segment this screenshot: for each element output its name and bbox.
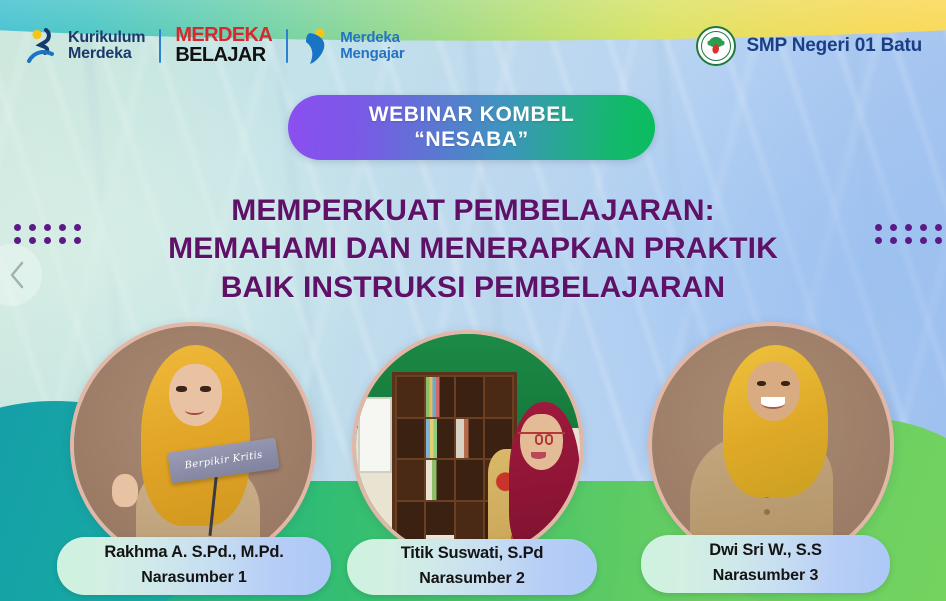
speaker-2-name: Titik Suswati, S.Pd bbox=[401, 544, 544, 563]
school-name: SMP Negeri 01 Batu bbox=[746, 35, 922, 57]
chevron-left-icon bbox=[7, 260, 27, 290]
program-logos: Kurikulum Merdeka MERDEKA BELAJAR Merdek… bbox=[26, 26, 405, 65]
mengajar-line1: Merdeka bbox=[340, 30, 404, 46]
kurikulum-line1: Kurikulum bbox=[68, 30, 145, 46]
headline-line-1: MEMPERKUAT PEMBELAJARAN: bbox=[0, 192, 946, 230]
mengajar-line2: Mengajar bbox=[340, 46, 404, 62]
speaker-3 bbox=[648, 322, 894, 568]
dot-grid-left bbox=[14, 224, 81, 244]
school-crest-icon bbox=[696, 26, 736, 66]
speaker-3-role: Narasumber 3 bbox=[713, 567, 819, 585]
webinar-flyer-slide: Kurikulum Merdeka MERDEKA BELAJAR Merdek… bbox=[0, 0, 946, 601]
kurikulum-line2: Merdeka bbox=[68, 46, 145, 62]
speaker-2-photo bbox=[352, 330, 584, 562]
webinar-pill-line2: “NESABA” bbox=[414, 128, 528, 153]
merdeka-mengajar-bird-icon bbox=[302, 27, 332, 65]
merdeka-mengajar-logo: Merdeka Mengajar bbox=[302, 27, 404, 65]
speaker-2-nameplate: Titik Suswati, S.Pd Narasumber 2 bbox=[347, 539, 597, 595]
kurikulum-merdeka-logo: Kurikulum Merdeka bbox=[26, 28, 145, 64]
header-bar: Kurikulum Merdeka MERDEKA BELAJAR Merdek… bbox=[0, 0, 946, 92]
speaker-3-photo bbox=[648, 322, 894, 568]
school-identity: SMP Negeri 01 Batu bbox=[696, 26, 922, 66]
logo-divider-1 bbox=[159, 29, 161, 63]
speaker-3-name: Dwi Sri W., S.S bbox=[709, 541, 822, 560]
merdeka-mengajar-text: Merdeka Mengajar bbox=[340, 30, 404, 61]
kurikulum-merdeka-runner-icon bbox=[26, 28, 60, 64]
webinar-pill-line1: WEBINAR KOMBEL bbox=[369, 103, 575, 128]
kurikulum-merdeka-text: Kurikulum Merdeka bbox=[68, 30, 145, 63]
dot-grid-right bbox=[875, 224, 942, 244]
headline-line-2: MEMAHAMI DAN MENERAPKAN PRAKTIK bbox=[0, 230, 946, 268]
logo-divider-2 bbox=[286, 29, 288, 63]
page-title: MEMPERKUAT PEMBELAJARAN: MEMAHAMI DAN ME… bbox=[0, 192, 946, 307]
speaker-1: Berpikir Kritis bbox=[70, 322, 316, 568]
merdeka-belajar-logo: MERDEKA BELAJAR bbox=[175, 26, 272, 65]
headline-line-3: BAIK INSTRUKSI PEMBELAJARAN bbox=[0, 269, 946, 307]
speaker-1-nameplate: Rakhma A. S.Pd., M.Pd. Narasumber 1 bbox=[57, 537, 331, 595]
speaker-3-nameplate: Dwi Sri W., S.S Narasumber 3 bbox=[641, 535, 890, 593]
speaker-2 bbox=[352, 330, 584, 562]
webinar-title-pill: WEBINAR KOMBEL “NESABA” bbox=[288, 95, 655, 160]
speaker-1-name: Rakhma A. S.Pd., M.Pd. bbox=[104, 543, 283, 562]
speaker-2-role: Narasumber 2 bbox=[419, 570, 525, 588]
speaker-1-photo: Berpikir Kritis bbox=[70, 322, 316, 568]
merdeka-belajar-line2: BELAJAR bbox=[175, 46, 272, 66]
speaker-1-role: Narasumber 1 bbox=[141, 569, 247, 587]
